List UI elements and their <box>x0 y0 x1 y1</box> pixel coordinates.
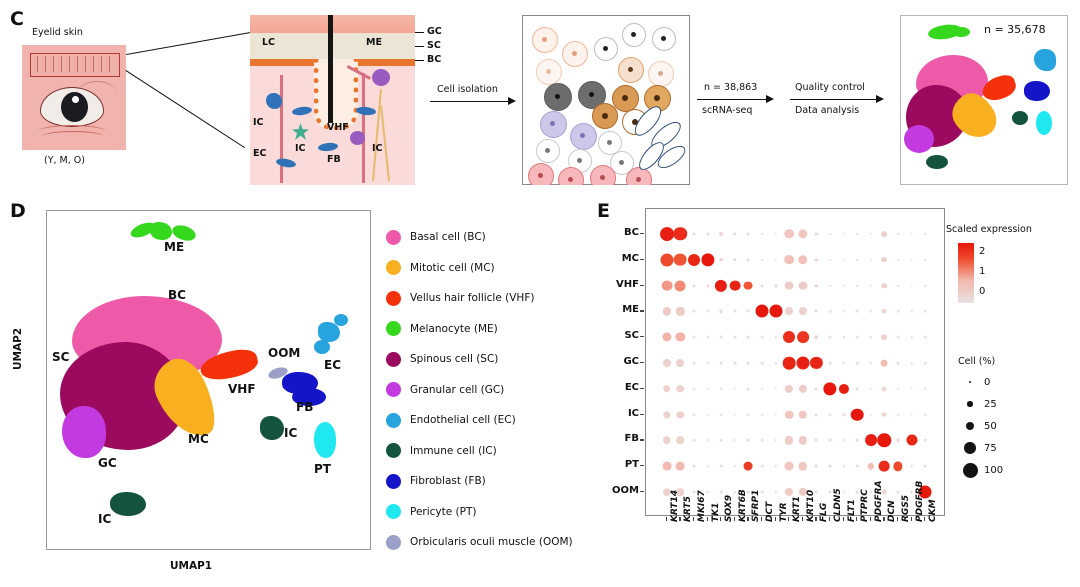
dotplot-dot <box>774 258 777 261</box>
dotplot-x-tick <box>829 517 830 521</box>
dotplot-dot <box>676 333 685 342</box>
scrna-n-label: n = 38,863 <box>704 82 757 93</box>
dotplot-dot <box>747 336 750 339</box>
dotplot-dot <box>828 490 831 493</box>
cell-icon <box>544 83 572 111</box>
dotplot-dot <box>676 359 684 367</box>
dotplot-dot <box>897 336 900 339</box>
legend-swatch-pt <box>386 504 401 519</box>
dotplot-dot <box>693 388 696 391</box>
dotplot-row-label-vhf: VHF <box>597 279 639 290</box>
dotplot-dot <box>842 336 845 339</box>
dotplot-dot <box>910 491 913 494</box>
dotplot-dot <box>910 413 913 416</box>
dotplot-x-tick <box>815 517 816 521</box>
dotplot-dot <box>897 284 900 287</box>
dotplot-dot <box>688 254 700 266</box>
dotplot-dot <box>810 357 822 369</box>
dotplot-dot <box>881 360 888 367</box>
dotplot-gene-label-cldn5: CLDN5 <box>833 488 843 522</box>
dotplot-row-label-mc: MC <box>597 253 639 264</box>
legend-item-pt[interactable]: Pericyte (PT) <box>386 497 586 528</box>
colorbar <box>958 243 974 303</box>
dotplot-dot <box>856 491 859 494</box>
dotplot-x-tick <box>707 517 708 521</box>
dotplot-gene-label-dct: DCT <box>765 502 775 522</box>
arrow-1-line <box>430 101 510 102</box>
size-legend-dot <box>964 442 976 454</box>
dotplot-dot <box>674 253 687 266</box>
cell-icon <box>536 139 560 163</box>
cell-icon <box>612 85 639 112</box>
legend-label-gc: Granular cell (GC) <box>410 384 504 396</box>
dotplot-x-tick <box>761 517 762 521</box>
dotplot-dot <box>910 362 913 365</box>
dotplot-dot <box>677 411 684 418</box>
eyelid-strip-icon <box>30 53 120 77</box>
dotplot-dot <box>744 462 753 471</box>
cell-icon <box>626 167 652 185</box>
dotplot-dot <box>783 331 795 343</box>
dotplot-dot <box>882 334 888 340</box>
dotplot-dot <box>663 385 671 393</box>
dotplot-y-tick <box>640 439 644 440</box>
cell-icon <box>594 37 618 61</box>
dotplot-dot <box>815 387 818 390</box>
size-legend-dot <box>966 422 975 431</box>
dotplot-dot <box>893 462 902 471</box>
dotplot-dot <box>693 465 696 468</box>
mini-cluster-pt <box>1036 111 1052 135</box>
dotplot-dot <box>761 388 764 391</box>
legend-label-bc: Basal cell (BC) <box>410 231 486 243</box>
dotplot-dot <box>784 255 794 265</box>
dotplot-dot <box>870 258 873 261</box>
umap-y-axis-label: UMAP2 <box>12 328 24 370</box>
dotplot-dot <box>785 307 793 315</box>
legend-label-pt: Pericyte (PT) <box>410 506 477 518</box>
quality-control-label: Quality control <box>795 82 865 93</box>
size-legend-dot <box>967 401 972 406</box>
cell-icon <box>648 61 674 87</box>
dotplot-dot <box>693 413 696 416</box>
dotplot-dot <box>842 258 845 261</box>
dotplot-x-tick <box>720 517 721 521</box>
dotplot-dot <box>675 280 686 291</box>
dotplot-gene-label-krt10: KRT10 <box>806 490 816 522</box>
dotplot-dot <box>910 233 913 236</box>
mini-cluster-ic-2 <box>926 155 948 169</box>
dotplot-dot <box>829 465 832 468</box>
legend-item-ic[interactable]: Immune cell (IC) <box>386 436 586 467</box>
dotplot-dot <box>761 413 764 416</box>
dotplot-dot <box>719 258 723 262</box>
cell-icon <box>590 165 616 185</box>
dotplot-dot <box>733 413 736 416</box>
dotplot-dot <box>706 232 709 235</box>
dotplot-dot <box>733 232 736 235</box>
dotplot-dot <box>870 362 873 365</box>
dotplot-dot <box>842 310 845 313</box>
dotplot-dot <box>815 310 818 313</box>
dotplot-dot <box>829 258 832 261</box>
size-legend-value: 0 <box>984 377 990 388</box>
dotplot-dot <box>924 388 927 391</box>
dotplot-dot <box>882 309 887 314</box>
umap-label-bc: BC <box>168 288 186 302</box>
dotplot-dot <box>870 233 873 236</box>
skin-label-fb: FB <box>327 154 341 165</box>
dotplot-dot <box>733 439 736 442</box>
dotplot-dot <box>924 336 927 339</box>
dotplot-dot <box>815 335 819 339</box>
dotplot-dot <box>715 279 727 291</box>
dotplot-dot <box>882 283 888 289</box>
legend-swatch-sc <box>386 352 401 367</box>
dotplot-y-tick <box>640 491 644 492</box>
dotplot-dot <box>693 439 696 442</box>
dotplot-dot <box>882 231 888 237</box>
legend-label-oom: Orbicularis oculi muscle (OOM) <box>410 536 573 548</box>
dotplot-dot <box>882 412 887 417</box>
mini-cluster-fb <box>1024 81 1050 101</box>
dotplot-dot <box>799 436 807 444</box>
dotplot-dot <box>663 437 671 445</box>
dotplot-dot <box>663 307 671 315</box>
skin-label-vhf: VHF <box>327 122 349 133</box>
dotplot-dot <box>897 362 900 365</box>
dotplot-x-tick <box>747 517 748 521</box>
dotplot-dot <box>747 258 750 261</box>
arrow-1-head <box>508 97 516 105</box>
dotplot-dot <box>744 281 753 290</box>
dotplot-dot <box>910 258 913 261</box>
dotplot-dot <box>774 362 777 365</box>
umap-label-mc: MC <box>188 432 209 446</box>
dotplot-gene-label-ptprc: PTPRC <box>860 489 870 522</box>
dotplot-dot <box>868 463 874 469</box>
cell-icon <box>528 163 554 185</box>
dotplot-dot <box>906 435 917 446</box>
dotplot-dot <box>829 362 832 365</box>
size-legend-dot <box>969 381 971 383</box>
dotplot-dot <box>769 305 782 318</box>
dotplot-dot <box>910 284 913 287</box>
dotplot-x-tick <box>870 517 871 521</box>
skin-label-lc: LC <box>262 37 275 48</box>
dotplot-dot <box>676 462 685 471</box>
scrna-method-label: scRNA-seq <box>702 105 752 116</box>
layer-tick-sc <box>415 46 424 47</box>
dotplot-row-label-ic: IC <box>597 408 639 419</box>
cell-icon <box>618 57 644 83</box>
mini-umap-illustration <box>900 15 1068 185</box>
umap-label-fb: FB <box>296 400 313 414</box>
colorbar-tick-0: 0 <box>979 286 985 297</box>
legend-label-ic: Immune cell (IC) <box>410 445 497 457</box>
layer-label-bc: BC <box>427 54 441 65</box>
dotplot-dot <box>720 388 723 391</box>
umap-cluster-ic-bottom <box>110 492 146 516</box>
dotplot-dot <box>706 362 709 365</box>
dotplot-dot <box>924 310 927 313</box>
dotplot-row-label-bc: BC <box>597 227 639 238</box>
dotplot-dot <box>693 310 696 313</box>
dotplot-dot <box>851 408 864 421</box>
dotplot-dot <box>829 310 832 313</box>
dotplot-dot <box>733 336 736 339</box>
dotplot-dots <box>646 209 944 515</box>
umap-label-oom: OOM <box>268 346 300 360</box>
dotplot-dot <box>761 258 764 261</box>
legend-label-sc: Spinous cell (SC) <box>410 353 498 365</box>
dotplot-dot <box>747 232 750 235</box>
umap-label-gc: GC <box>98 456 117 470</box>
umap-cluster-ic <box>260 416 284 440</box>
cell-icon <box>592 103 618 129</box>
legend-item-fb[interactable]: Fibroblast (FB) <box>386 466 586 497</box>
dotplot-x-tick <box>911 517 912 521</box>
dotplot-dot <box>662 462 671 471</box>
legend-swatch-fb <box>386 474 401 489</box>
dotplot-dot <box>663 359 671 367</box>
dotplot-dot <box>662 333 671 342</box>
dotplot-x-tick <box>843 517 844 521</box>
dotplot-dot <box>842 284 845 287</box>
size-legend-value: 50 <box>984 421 997 432</box>
figure-canvas: C Eyelid skin (Y, M, O) <box>0 0 1080 587</box>
dotplot-gene-label-krt1: KRT1 <box>792 496 802 522</box>
legend-item-sc[interactable]: Spinous cell (SC) <box>386 344 586 375</box>
dotplot-dot <box>693 336 696 339</box>
dotplot-dot <box>774 491 777 494</box>
dotplot-y-tick <box>640 310 644 311</box>
dotplot-dot <box>661 280 672 291</box>
legend-item-me[interactable]: Melanocyte (ME) <box>386 314 586 345</box>
legend-label-me: Melanocyte (ME) <box>410 323 498 335</box>
layer-tick-gc <box>415 32 424 33</box>
cell-icon <box>532 27 558 53</box>
dotplot-dot <box>761 439 764 442</box>
size-legend-dot-wrap <box>962 381 978 383</box>
dotplot-box <box>645 208 945 516</box>
legend-item-mc[interactable]: Mitotic cell (MC) <box>386 253 586 284</box>
zoom-connector-top <box>126 31 254 55</box>
cell-icon <box>622 23 646 47</box>
dotplot-dot <box>879 461 890 472</box>
dotplot-dot <box>720 413 723 416</box>
dotplot-dot <box>798 281 807 290</box>
dotplot-gene-label-dcn: DCN <box>887 500 897 522</box>
size-legend-title: Cell (%) <box>958 356 995 367</box>
legend-label-vhf: Vellus hair follicle (VHF) <box>410 292 534 304</box>
vessel-2 <box>362 73 365 183</box>
dotplot-dot <box>701 253 714 266</box>
cell-isolation-label: Cell isolation <box>437 84 498 95</box>
dotplot-dot <box>815 465 818 468</box>
dotplot-dot <box>720 362 723 365</box>
dotplot-dot <box>663 411 670 418</box>
legend-item-vhf[interactable]: Vellus hair follicle (VHF) <box>386 283 586 314</box>
dotplot-dot <box>677 385 685 393</box>
dotplot-dot <box>761 491 764 494</box>
dotplot-dot <box>856 465 859 468</box>
dotplot-dot <box>720 439 723 442</box>
dotplot-gene-label-ckm: CKM <box>928 499 938 522</box>
immune-cell-icon-1 <box>266 93 282 109</box>
dotplot-dot <box>761 233 764 236</box>
vessel-1 <box>280 75 283 183</box>
legend-swatch-vhf <box>386 291 401 306</box>
dotplot-dot <box>706 413 709 416</box>
dotplot-dot <box>799 410 808 419</box>
umap-label-ec: EC <box>324 358 341 372</box>
dotplot-dot <box>785 436 793 444</box>
dotplot-dot <box>733 465 736 468</box>
umap-cluster-gc <box>62 406 106 458</box>
dotplot-row-label-gc: GC <box>597 356 639 367</box>
dotplot-dot <box>856 284 859 287</box>
legend-item-gc[interactable]: Granular cell (GC) <box>386 375 586 406</box>
dotplot-dot <box>910 388 913 391</box>
legend-label-ec: Endothelial cell (EC) <box>410 414 516 426</box>
layer-label-sc: SC <box>427 40 441 51</box>
dotplot-dot <box>839 384 849 394</box>
legend-swatch-bc <box>386 230 401 245</box>
eyelid-illustration <box>22 45 126 150</box>
legend-item-ec[interactable]: Endothelial cell (EC) <box>386 405 586 436</box>
umap-cluster-pt <box>314 422 336 458</box>
colorbar-title: Scaled expression <box>946 224 1032 235</box>
dotplot-dot <box>733 388 736 391</box>
dotplot-dot <box>897 233 900 236</box>
hair-shaft-icon <box>328 15 333 123</box>
dotplot-dot <box>870 284 873 287</box>
dotplot-dot <box>729 280 740 291</box>
dotplot-dot <box>720 310 723 313</box>
eyelid-skin-title: Eyelid skin <box>32 27 83 38</box>
dotplot-dot <box>896 439 899 442</box>
dotplot-dot <box>856 362 859 365</box>
legend-swatch-oom <box>386 535 401 550</box>
dotplot-dot <box>692 232 695 235</box>
dotplot-dot <box>720 491 723 494</box>
dotplot-dot <box>706 310 709 313</box>
dotplot-dot <box>823 382 836 395</box>
dotplot-dot <box>856 310 859 313</box>
skin-label-me: ME <box>366 37 382 48</box>
dotplot-dot <box>842 233 845 236</box>
dotplot-dot <box>785 385 793 393</box>
dotplot-dot <box>693 362 696 365</box>
dotplot-dot <box>761 465 764 468</box>
dotplot-dot <box>747 413 750 416</box>
colorbar-tick-2: 2 <box>979 246 985 257</box>
dotplot-dot <box>815 413 818 416</box>
arrow-2-line <box>697 99 769 100</box>
dotplot-gene-label-tyr: TYR <box>779 502 789 522</box>
layer-tick-bc <box>415 60 424 61</box>
cell-icon <box>562 41 588 67</box>
cell-suspension-illustration <box>522 15 690 185</box>
lower-lid-line-2 <box>42 131 104 142</box>
dotplot-gene-label-krt5: KRT5 <box>683 496 693 522</box>
cell-icon <box>536 59 562 85</box>
umap-label-ic-right: IC <box>284 426 297 440</box>
dotplot-dot <box>799 307 807 315</box>
cell-icon <box>652 27 676 51</box>
mini-cluster-ic <box>1012 111 1028 125</box>
umap-label-me: ME <box>164 240 184 254</box>
dotplot-dot <box>733 362 736 365</box>
size-legend-item-25: 25 <box>962 394 1052 414</box>
final-n-label: n = 35,678 <box>984 23 1046 36</box>
eyelid-caption: (Y, M, O) <box>44 155 85 166</box>
dotplot-dot <box>910 465 913 468</box>
dotplot-dot <box>924 284 927 287</box>
legend-item-oom[interactable]: Orbicularis oculi muscle (OOM) <box>386 527 586 558</box>
legend-swatch-gc <box>386 382 401 397</box>
size-legend-dot-wrap <box>962 422 978 431</box>
dotplot-dot <box>676 307 684 315</box>
data-analysis-label: Data analysis <box>795 105 859 116</box>
skin-label-ic-2: IC <box>295 143 306 154</box>
size-legend-dot <box>963 463 978 478</box>
dotplot-dot <box>842 465 845 468</box>
dotplot-x-tick <box>924 517 925 521</box>
dotplot-gene-label-pdgfrb: PDGFRB <box>915 481 925 522</box>
colorbar-tick-1: 1 <box>979 266 985 277</box>
dotplot-dot <box>897 413 900 416</box>
dotplot-dot <box>756 305 769 318</box>
dotplot-x-tick <box>693 517 694 521</box>
skin-label-ic-3: IC <box>372 143 383 154</box>
dotplot-gene-label-pdgfra: PDGFRA <box>874 481 884 523</box>
dotplot-dot <box>910 310 913 313</box>
dotplot-dot <box>747 310 750 313</box>
dotplot-dot <box>706 439 709 442</box>
dotplot-dot <box>924 362 927 365</box>
dotplot-dot <box>870 413 873 416</box>
dotplot-x-tick <box>856 517 857 521</box>
size-legend-dot-wrap <box>962 442 978 454</box>
dotplot-gene-label-sfrp1: SFRP1 <box>751 490 761 522</box>
size-legend-item-0: 0 <box>962 372 1052 392</box>
layer-label-gc: GC <box>427 26 442 37</box>
dotplot-x-tick <box>883 517 884 521</box>
dotplot-x-tick <box>802 517 803 521</box>
dotplot-x-tick <box>734 517 735 521</box>
dotplot-dot <box>761 284 764 287</box>
dotplot-dot <box>693 491 696 494</box>
dotplot-dot <box>706 284 709 287</box>
panel-label-e: E <box>597 200 610 222</box>
dotplot-dot <box>882 257 888 263</box>
dotplot-dot <box>706 336 709 339</box>
dotplot-y-tick <box>640 285 644 286</box>
dotplot-x-tick <box>788 517 789 521</box>
dotplot-row-label-sc: SC <box>597 330 639 341</box>
dotplot-gene-label-krt6b: KRT6B <box>738 489 748 522</box>
legend-item-bc[interactable]: Basal cell (BC) <box>386 222 586 253</box>
dotplot-dot <box>815 258 819 262</box>
umap-label-sc: SC <box>52 350 69 364</box>
panel-label-c: C <box>10 8 24 30</box>
dotplot-dot <box>783 357 796 370</box>
legend-swatch-mc <box>386 260 401 275</box>
size-legend-dot-wrap <box>962 463 978 478</box>
size-legend-item-75: 75 <box>962 438 1052 458</box>
